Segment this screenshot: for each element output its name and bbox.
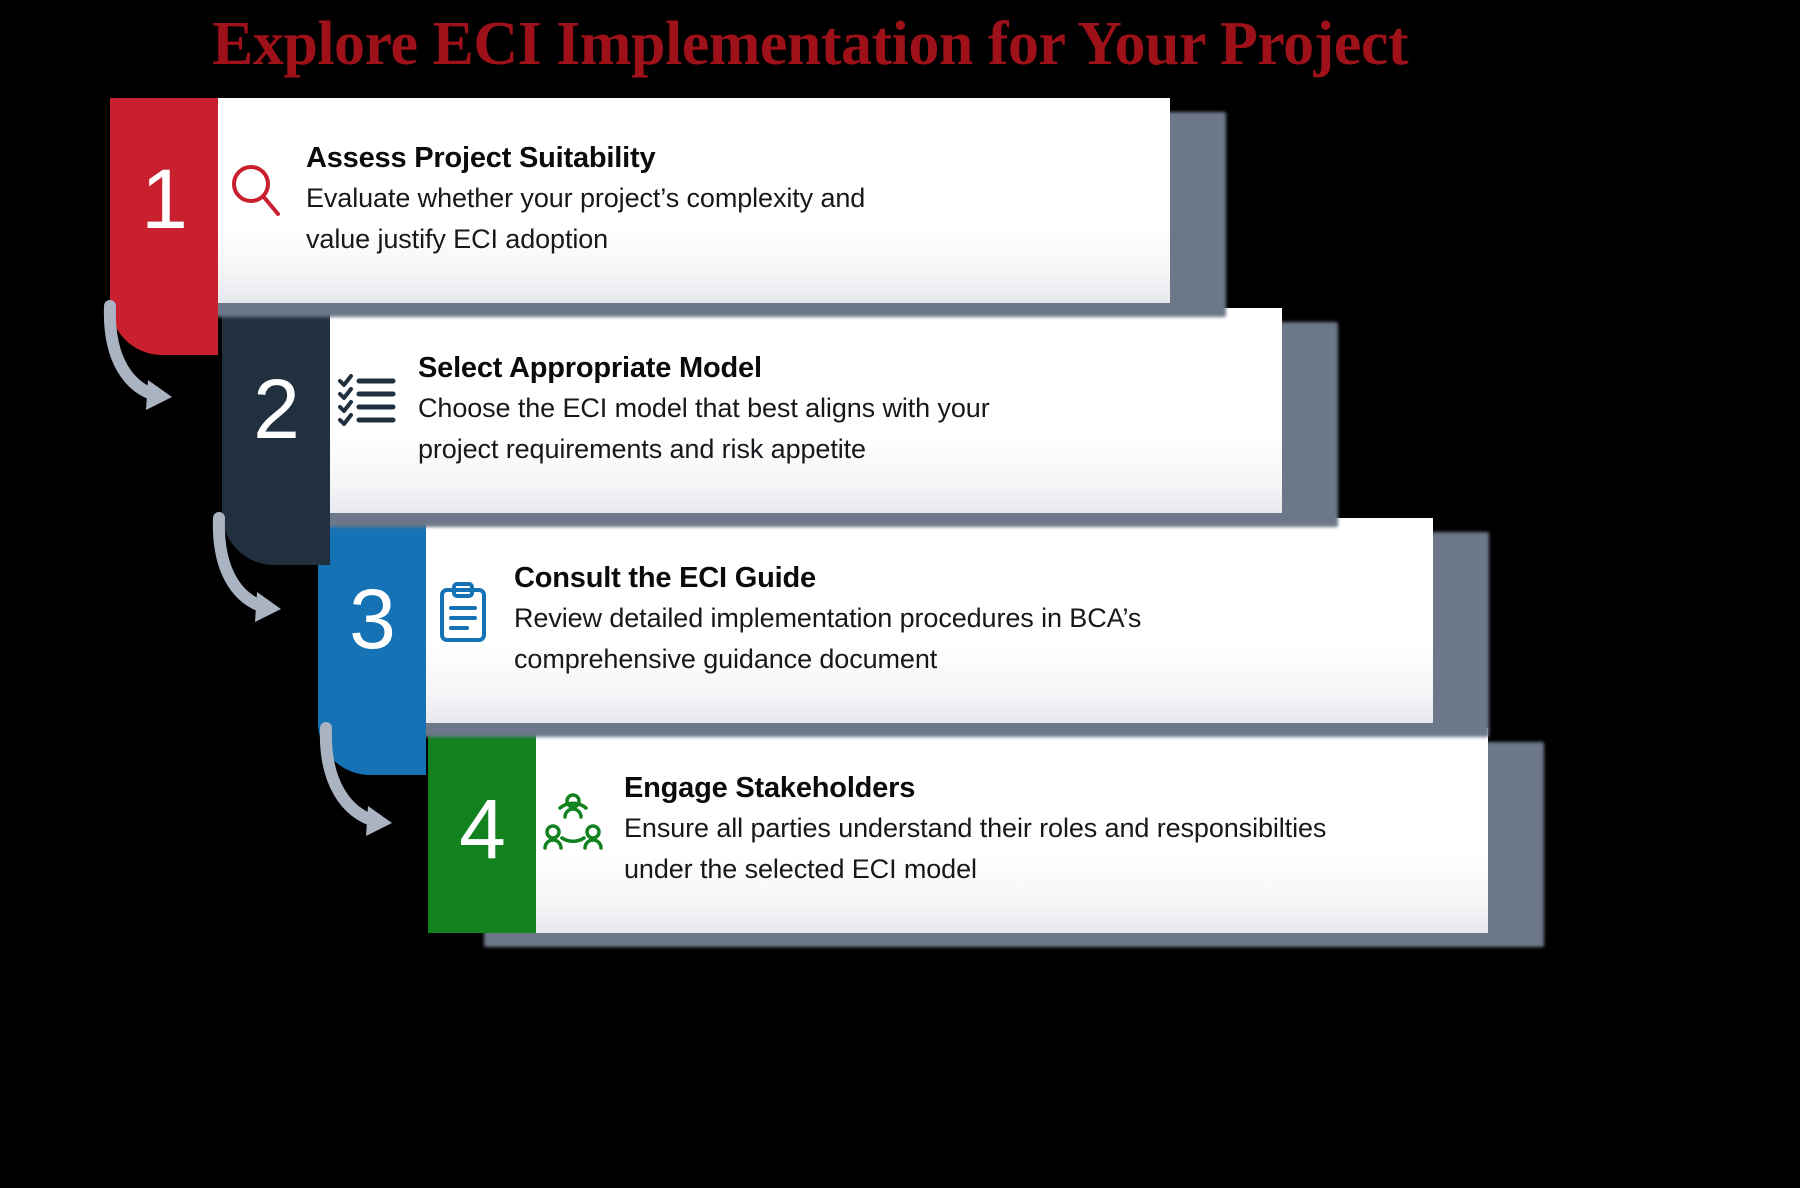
checklist-icon	[330, 350, 404, 432]
card-body-4: Engage Stakeholders Ensure all parties u…	[536, 728, 1488, 933]
clipboard-icon	[426, 560, 500, 642]
step-card-4[interactable]: 4	[428, 728, 1488, 933]
card-surface-1: 1 Assess Project Suitability Evaluate wh…	[110, 98, 1170, 303]
step-desc-line2-3: comprehensive guidance document	[514, 639, 1413, 680]
text-column-4: Engage Stakeholders Ensure all parties u…	[624, 770, 1488, 890]
step-card-1[interactable]: 1 Assess Project Suitability Evaluate wh…	[110, 98, 1170, 303]
step-title-3: Consult the ECI Guide	[514, 560, 1413, 596]
text-column-2: Select Appropriate Model Choose the ECI …	[418, 350, 1282, 470]
card-surface-4: 4	[428, 728, 1488, 933]
step-number-badge-2: 2	[222, 308, 330, 513]
infographic-canvas: Explore ECI Implementation for Your Proj…	[0, 0, 1800, 1188]
step-number-badge-1: 1	[110, 98, 218, 303]
text-column-1: Assess Project Suitability Evaluate whet…	[306, 140, 1170, 260]
step-desc-line1-3: Review detailed implementation procedure…	[514, 598, 1413, 639]
step-desc-line1-4: Ensure all parties understand their role…	[624, 808, 1468, 849]
step-desc-line1-2: Choose the ECI model that best aligns wi…	[418, 388, 1262, 429]
step-desc-line2-4: under the selected ECI model	[624, 849, 1468, 890]
step-number-2: 2	[253, 367, 299, 451]
card-surface-2: 2	[222, 308, 1282, 513]
card-body-3: Consult the ECI Guide Review detailed im…	[426, 518, 1433, 723]
step-number-1: 1	[141, 157, 187, 241]
card-body-1: Assess Project Suitability Evaluate whet…	[218, 98, 1170, 303]
stakeholders-icon	[536, 770, 610, 852]
magnifier-icon	[218, 140, 292, 222]
badge-tail-1	[110, 303, 218, 355]
step-desc-line2-2: project requirements and risk appetite	[418, 429, 1262, 470]
step-desc-line1-1: Evaluate whether your project’s complexi…	[306, 178, 1150, 219]
badge-tail-3	[318, 723, 426, 775]
step-number-3: 3	[349, 577, 395, 661]
card-surface-3: 3 Consult the ECI Gui	[318, 518, 1433, 723]
step-desc-line2-1: value justify ECI adoption	[306, 219, 1150, 260]
step-title-2: Select Appropriate Model	[418, 350, 1262, 386]
step-title-1: Assess Project Suitability	[306, 140, 1150, 176]
step-number-badge-3: 3	[318, 518, 426, 723]
step-card-2[interactable]: 2	[222, 308, 1282, 513]
page-title: Explore ECI Implementation for Your Proj…	[0, 8, 1620, 80]
text-column-3: Consult the ECI Guide Review detailed im…	[514, 560, 1433, 680]
step-number-4: 4	[459, 787, 505, 871]
step-number-badge-4: 4	[428, 728, 536, 933]
step-title-4: Engage Stakeholders	[624, 770, 1468, 806]
step-card-3[interactable]: 3 Consult the ECI Gui	[318, 518, 1433, 723]
card-body-2: Select Appropriate Model Choose the ECI …	[330, 308, 1282, 513]
badge-tail-2	[222, 513, 330, 565]
